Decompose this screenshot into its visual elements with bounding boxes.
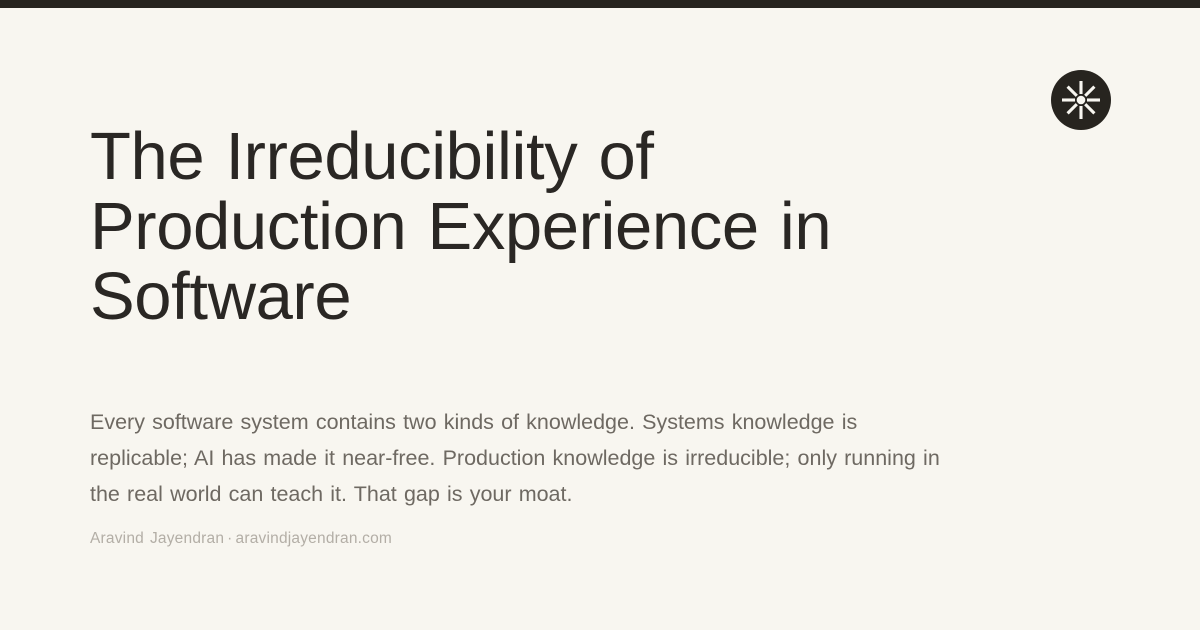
byline-site: aravindjayendran.com [236,530,393,547]
byline-separator: · [224,530,235,547]
share-card: The Irreducibility of Production Experie… [0,0,1200,630]
byline-author: Aravind Jayendran [90,530,224,547]
page-title: The Irreducibility of Production Experie… [90,122,990,332]
card-content: The Irreducibility of Production Experie… [90,0,1110,630]
byline: Aravind Jayendran·aravindjayendran.com [90,528,392,550]
summary-text: Every software system contains two kinds… [90,404,952,512]
